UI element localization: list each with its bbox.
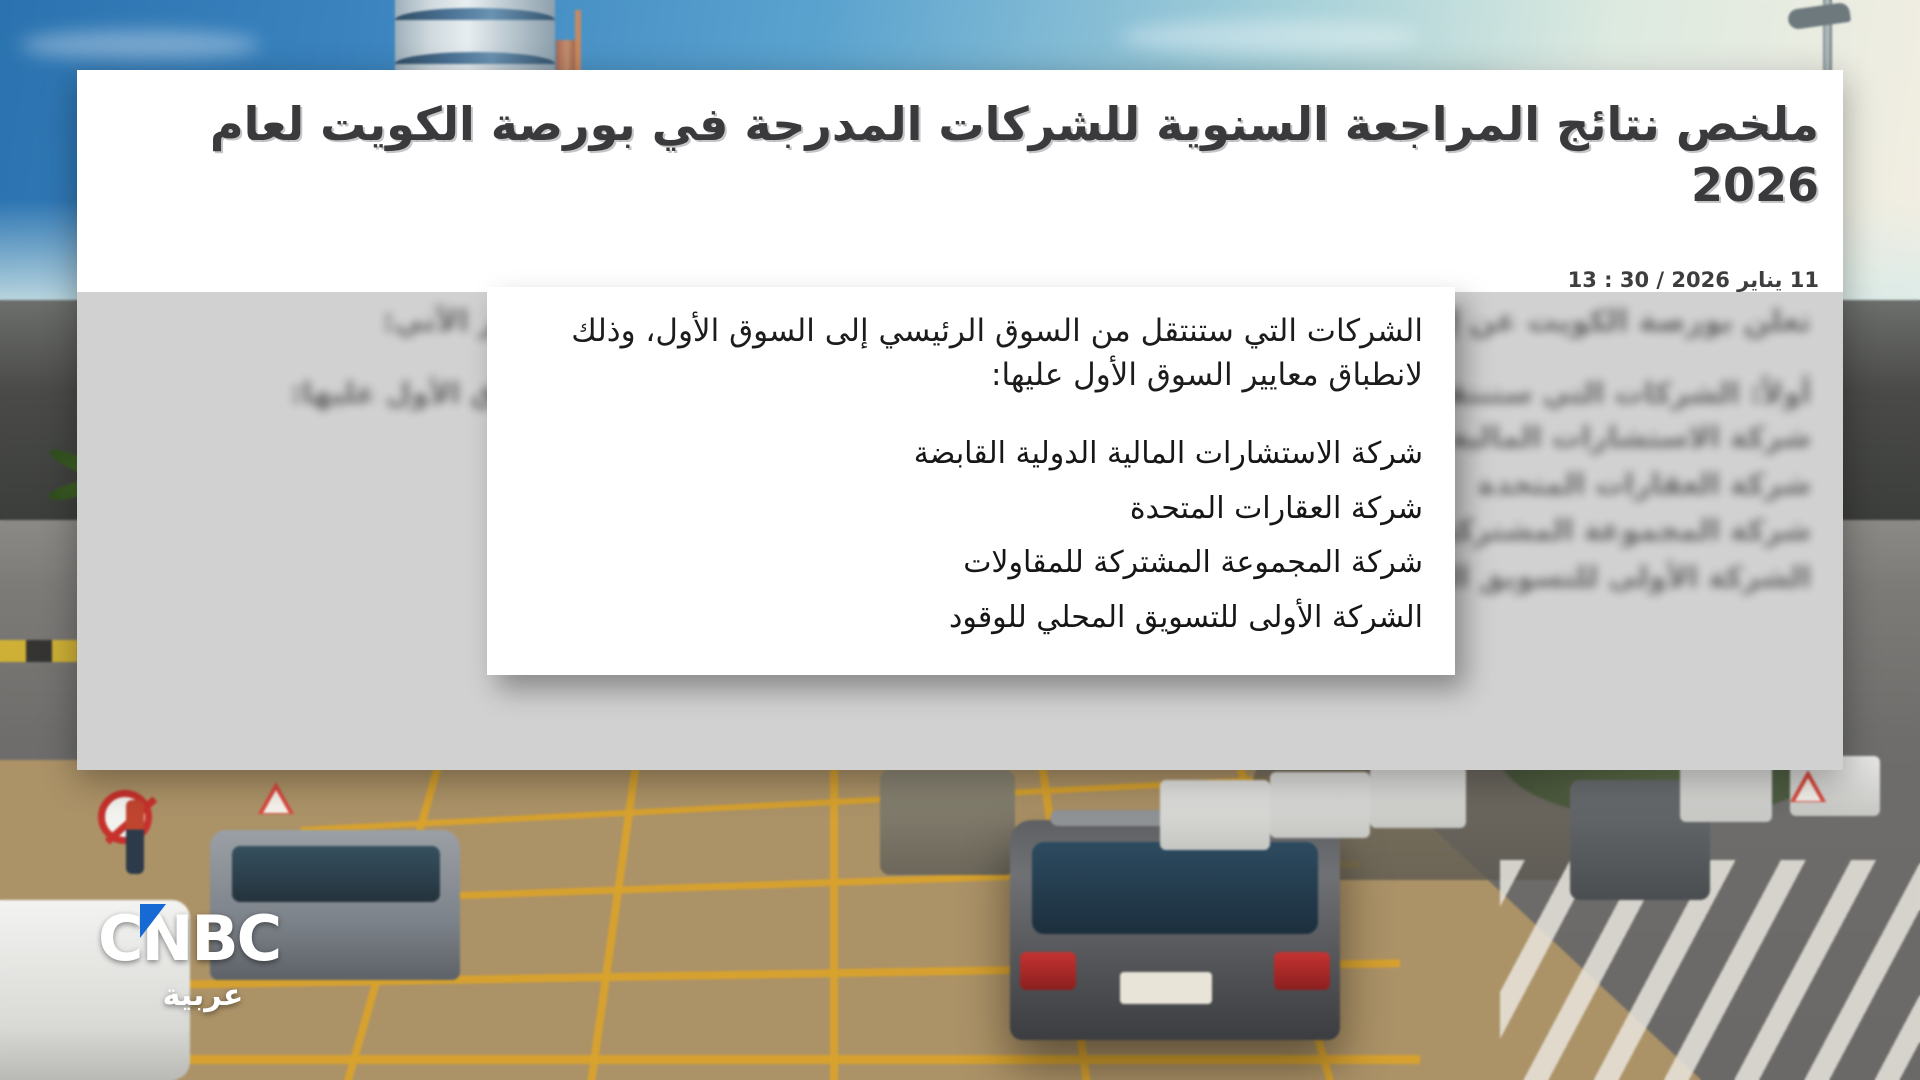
page-title: ملخص نتائج المراجعة السنوية للشركات المد…: [179, 94, 1819, 215]
highlight-lead-text: الشركات التي ستنتقل من السوق الرئيسي إلى…: [519, 309, 1423, 397]
news-card-header: ملخص نتائج المراجعة السنوية للشركات المد…: [77, 70, 1843, 292]
highlight-card-content: الشركات التي ستنتقل من السوق الرئيسي إلى…: [487, 287, 1455, 675]
company-list-item: شركة المجموعة المشتركة للمقاولات: [519, 536, 1423, 591]
timestamp: 11 يناير 2026 / 30 : 13: [1568, 268, 1819, 292]
company-list-item: شركة العقارات المتحدة: [519, 482, 1423, 537]
company-list: شركة الاستشارات المالية الدولية القابضة …: [519, 427, 1423, 645]
cnbc-arabic-wordmark: عربية: [98, 978, 308, 1013]
peacock-triangle-icon: [140, 904, 166, 938]
cnbc-arabia-logo: CNBC عربية: [78, 908, 308, 1028]
company-list-item: الشركة الأولى للتسويق المحلي للوقود: [519, 591, 1423, 646]
highlight-card: الشركات التي ستنتقل من السوق الرئيسي إلى…: [487, 287, 1455, 675]
cnbc-wordmark: CNBC: [98, 908, 308, 970]
company-list-item: شركة الاستشارات المالية الدولية القابضة: [519, 427, 1423, 482]
